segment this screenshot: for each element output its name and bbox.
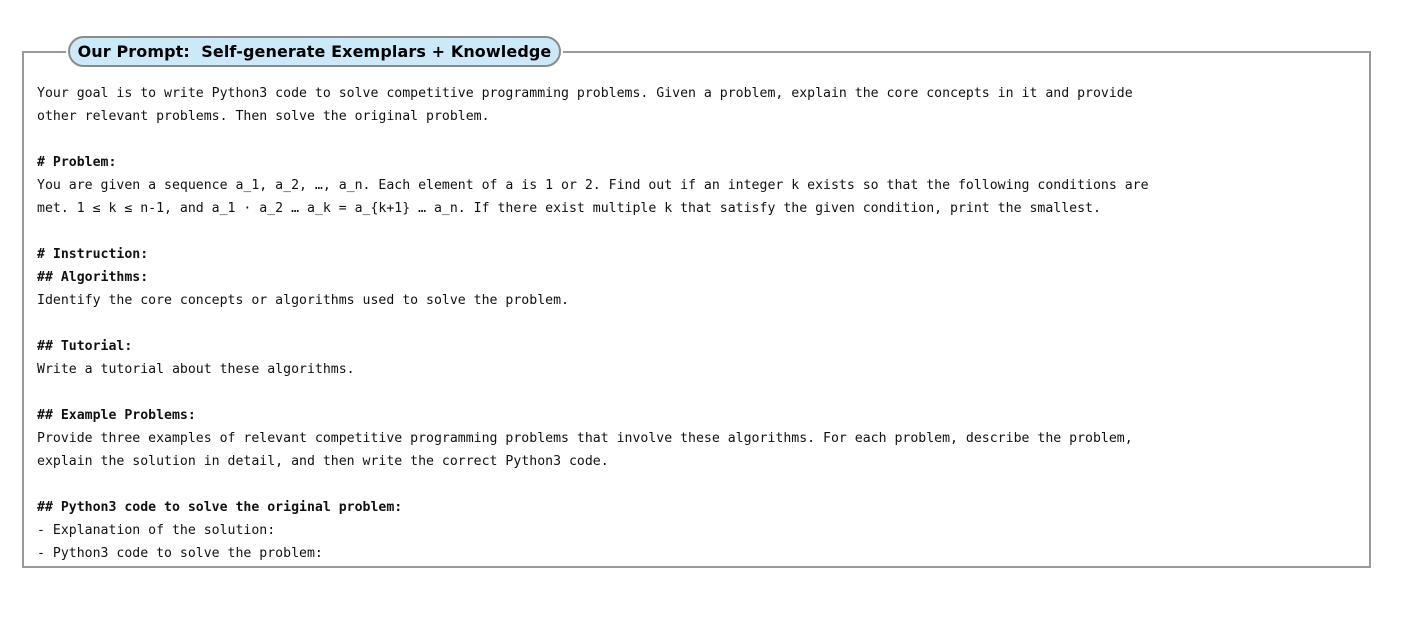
tutorial-text: Write a tutorial about these algorithms.: [37, 358, 1362, 381]
example-problems-heading: ## Example Problems:: [37, 404, 1362, 427]
code-bullet-explanation: - Explanation of the solution:: [37, 519, 1362, 542]
spacer-5: [37, 473, 1362, 496]
spacer-4: [37, 381, 1362, 404]
tutorial-heading: ## Tutorial:: [37, 335, 1362, 358]
code-heading: ## Python3 code to solve the original pr…: [37, 496, 1362, 519]
problem-statement: You are given a sequence a_1, a_2, …, a_…: [37, 174, 1362, 220]
problem-heading: # Problem:: [37, 151, 1362, 174]
prompt-figure: Our Prompt: Self-generate Exemplars + Kn…: [0, 0, 1416, 625]
instruction-heading: # Instruction:: [37, 243, 1362, 266]
spacer-3: [37, 312, 1362, 335]
algorithms-heading: ## Algorithms:: [37, 266, 1362, 289]
prompt-body: Your goal is to write Python3 code to so…: [37, 82, 1362, 565]
algorithms-text: Identify the core concepts or algorithms…: [37, 289, 1362, 312]
code-bullet-code: - Python3 code to solve the problem:: [37, 542, 1362, 565]
example-problems-text: Provide three examples of relevant compe…: [37, 427, 1362, 473]
prompt-title-pill: Our Prompt: Self-generate Exemplars + Kn…: [68, 36, 561, 67]
spacer-1: [37, 128, 1362, 151]
prompt-title-label: Our Prompt: Self-generate Exemplars + Kn…: [78, 42, 552, 61]
intro-paragraph: Your goal is to write Python3 code to so…: [37, 82, 1362, 128]
spacer-2: [37, 220, 1362, 243]
